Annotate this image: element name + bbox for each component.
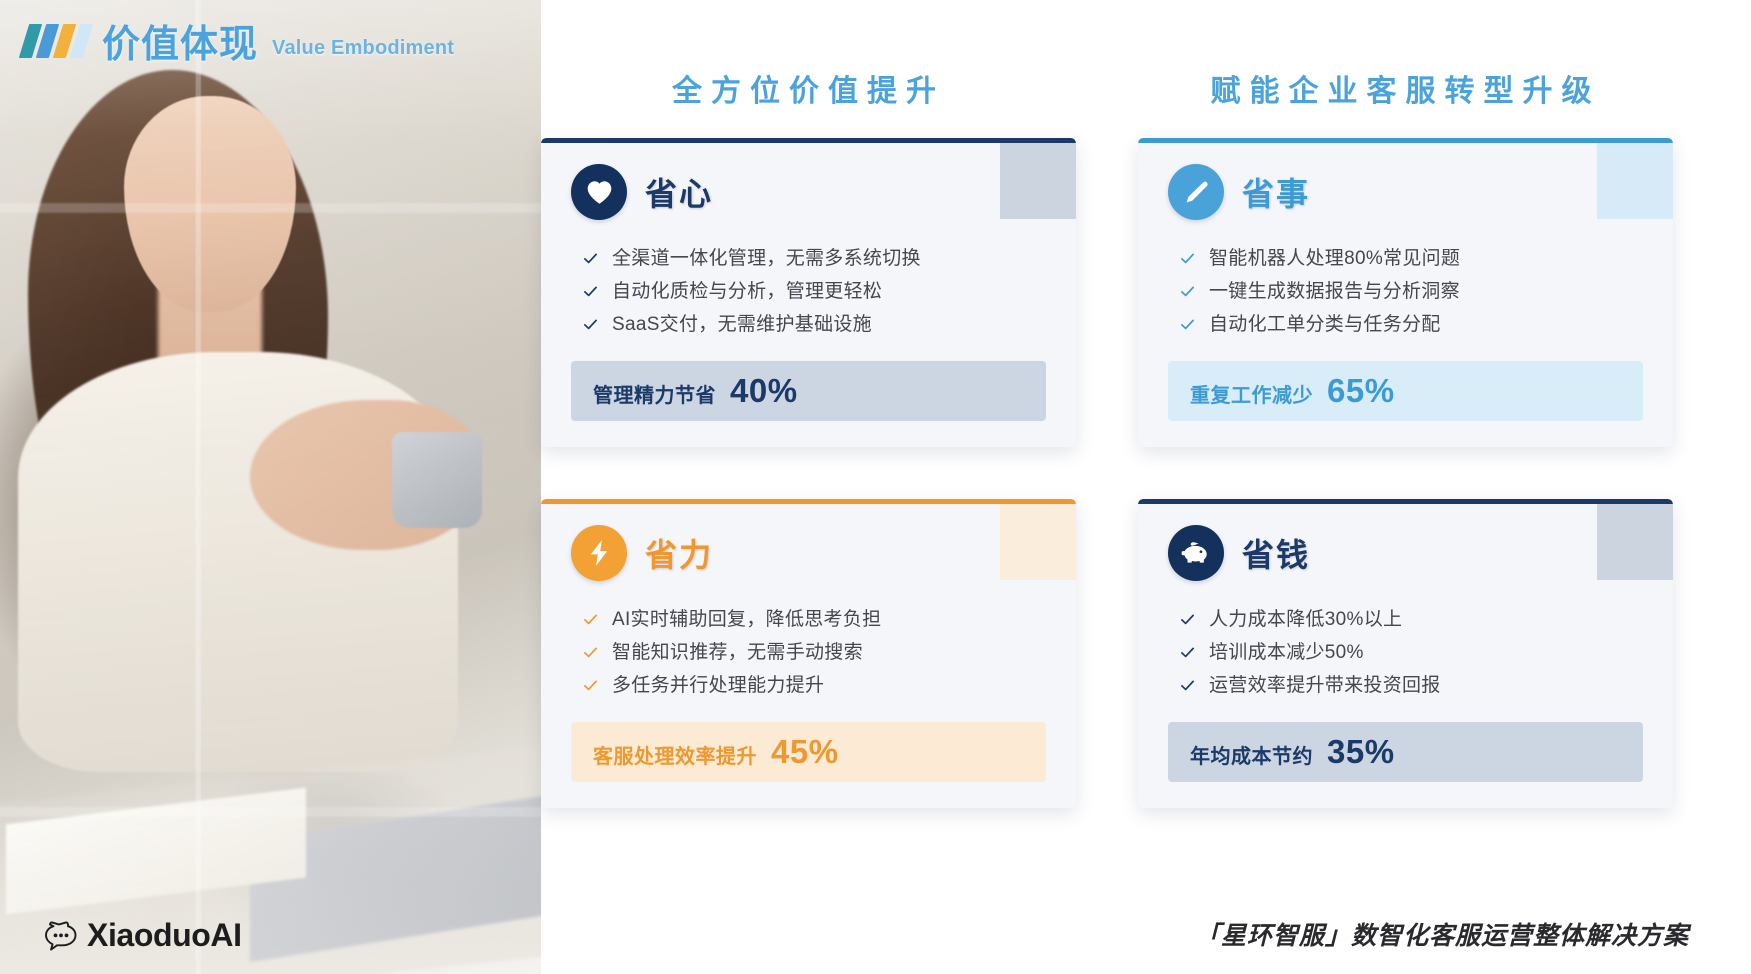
list-item: 一键生成数据报告与分析洞察 — [1168, 275, 1643, 308]
check-icon — [1180, 284, 1195, 299]
card-bullet-list: AI实时辅助回复，降低思考负担 智能知识推荐，无需手动搜索 多任务并行处理能力提… — [571, 603, 1046, 702]
header-title-cn: 价值体现 — [102, 26, 258, 64]
bullet-text: 自动化工单分类与任务分配 — [1209, 315, 1441, 334]
list-item: 培训成本减少50% — [1168, 636, 1643, 669]
check-icon — [1180, 612, 1195, 627]
column-title-1: 全方位价值提升 — [541, 66, 1076, 110]
list-item: SaaS交付，无需维护基础设施 — [571, 308, 1046, 341]
slide-root: 价值体现 Value Embodiment XiaoduoAI 全方位价值提升 — [0, 0, 1751, 974]
bullet-text: AI实时辅助回复，降低思考负担 — [612, 610, 881, 629]
check-icon — [583, 251, 598, 266]
piggy-bank-icon — [1168, 525, 1224, 581]
check-icon — [583, 678, 598, 693]
pen-icon — [1168, 164, 1224, 220]
card-stat-bar: 管理精力节省 40% — [571, 361, 1046, 421]
lightning-bolt-icon — [571, 525, 627, 581]
hero-photo-panel — [0, 0, 541, 974]
bullet-text: 运营效率提升带来投资回报 — [1209, 676, 1441, 695]
heart-glyph — [586, 180, 613, 205]
column-enterprise-transformation: 赋能企业客服转型升级 省事 — [1138, 66, 1673, 860]
bullet-text: 智能知识推荐，无需手动搜索 — [612, 643, 863, 662]
card-title: 省心 — [645, 169, 713, 215]
stat-value: 35% — [1327, 733, 1395, 771]
check-icon — [583, 645, 598, 660]
card-bullet-list: 人力成本降低30%以上 培训成本减少50% 运营效率提升带来投资回报 — [1168, 603, 1643, 702]
card-header: 省事 — [1168, 164, 1643, 220]
check-icon — [1180, 251, 1195, 266]
product-logo: XiaoduoAI — [44, 917, 242, 954]
card-shengshi[interactable]: 省事 智能机器人处理80%常见问题 一键生成数据报告与分析洞察 — [1138, 138, 1673, 447]
stat-label: 客服处理效率提升 — [593, 740, 757, 769]
list-item: 自动化工单分类与任务分配 — [1168, 308, 1643, 341]
list-item: 人力成本降低30%以上 — [1168, 603, 1643, 636]
list-item: AI实时辅助回复，降低思考负担 — [571, 603, 1046, 636]
pen-glyph — [1183, 179, 1209, 205]
card-header: 省钱 — [1168, 525, 1643, 581]
content-area: 全方位价值提升 省心 — [541, 0, 1751, 974]
brand-header: 价值体现 Value Embodiment — [24, 24, 454, 64]
card-title: 省力 — [645, 530, 713, 576]
card-header: 省力 — [571, 525, 1046, 581]
stat-value: 45% — [771, 733, 839, 771]
bullet-text: 培训成本减少50% — [1209, 643, 1364, 662]
card-bullet-list: 智能机器人处理80%常见问题 一键生成数据报告与分析洞察 自动化工单分类与任务分… — [1168, 242, 1643, 341]
card-title: 省钱 — [1242, 530, 1310, 576]
list-item: 多任务并行处理能力提升 — [571, 669, 1046, 702]
bullet-text: 人力成本降低30%以上 — [1209, 610, 1402, 629]
heart-icon — [571, 164, 627, 220]
bullet-text: 智能机器人处理80%常见问题 — [1209, 249, 1460, 268]
check-icon — [583, 284, 598, 299]
bullet-text: SaaS交付，无需维护基础设施 — [612, 315, 872, 334]
check-icon — [583, 612, 598, 627]
stat-label: 年均成本节约 — [1190, 740, 1313, 769]
bullet-text: 一键生成数据报告与分析洞察 — [1209, 282, 1460, 301]
footer-tagline: 「星环智服」数智化客服运营整体解决方案 — [1195, 916, 1689, 952]
stat-label: 管理精力节省 — [593, 379, 716, 408]
columns-wrapper: 全方位价值提升 省心 — [541, 0, 1751, 860]
card-bullet-list: 全渠道一体化管理，无需多系统切换 自动化质检与分析，管理更轻松 SaaS交付，无… — [571, 242, 1046, 341]
column-title-2: 赋能企业客服转型升级 — [1138, 66, 1673, 110]
stat-value: 40% — [730, 372, 798, 410]
card-shengli[interactable]: 省力 AI实时辅助回复，降低思考负担 智能知识推荐，无需手动搜索 — [541, 499, 1076, 808]
photo-overlay — [0, 0, 541, 974]
header-title-en: Value Embodiment — [272, 37, 454, 64]
list-item: 自动化质检与分析，管理更轻松 — [571, 275, 1046, 308]
check-icon — [1180, 317, 1195, 332]
list-item: 智能知识推荐，无需手动搜索 — [571, 636, 1046, 669]
bullet-text: 自动化质检与分析，管理更轻松 — [612, 282, 882, 301]
bullet-text: 多任务并行处理能力提升 — [612, 676, 824, 695]
stat-label: 重复工作减少 — [1190, 379, 1313, 408]
check-icon — [1180, 678, 1195, 693]
list-item: 运营效率提升带来投资回报 — [1168, 669, 1643, 702]
chat-bubble-icon — [44, 921, 78, 951]
list-item: 智能机器人处理80%常见问题 — [1168, 242, 1643, 275]
check-icon — [583, 317, 598, 332]
bullet-text: 全渠道一体化管理，无需多系统切换 — [612, 249, 921, 268]
card-shengqian[interactable]: 省钱 人力成本降低30%以上 培训成本减少50% 运 — [1138, 499, 1673, 808]
piggy-glyph — [1181, 540, 1211, 566]
card-title: 省事 — [1242, 169, 1310, 215]
check-icon — [1180, 645, 1195, 660]
card-stat-bar: 年均成本节约 35% — [1168, 722, 1643, 782]
list-item: 全渠道一体化管理，无需多系统切换 — [571, 242, 1046, 275]
card-stat-bar: 客服处理效率提升 45% — [571, 722, 1046, 782]
bolt-glyph — [588, 539, 610, 567]
card-header: 省心 — [571, 164, 1046, 220]
card-shengxin[interactable]: 省心 全渠道一体化管理，无需多系统切换 自动化质检与分析，管理更轻松 — [541, 138, 1076, 447]
column-value-improvement: 全方位价值提升 省心 — [541, 66, 1076, 860]
stat-value: 65% — [1327, 372, 1395, 410]
logo-bars-icon — [24, 24, 88, 58]
card-stat-bar: 重复工作减少 65% — [1168, 361, 1643, 421]
product-logo-text: XiaoduoAI — [87, 917, 242, 954]
